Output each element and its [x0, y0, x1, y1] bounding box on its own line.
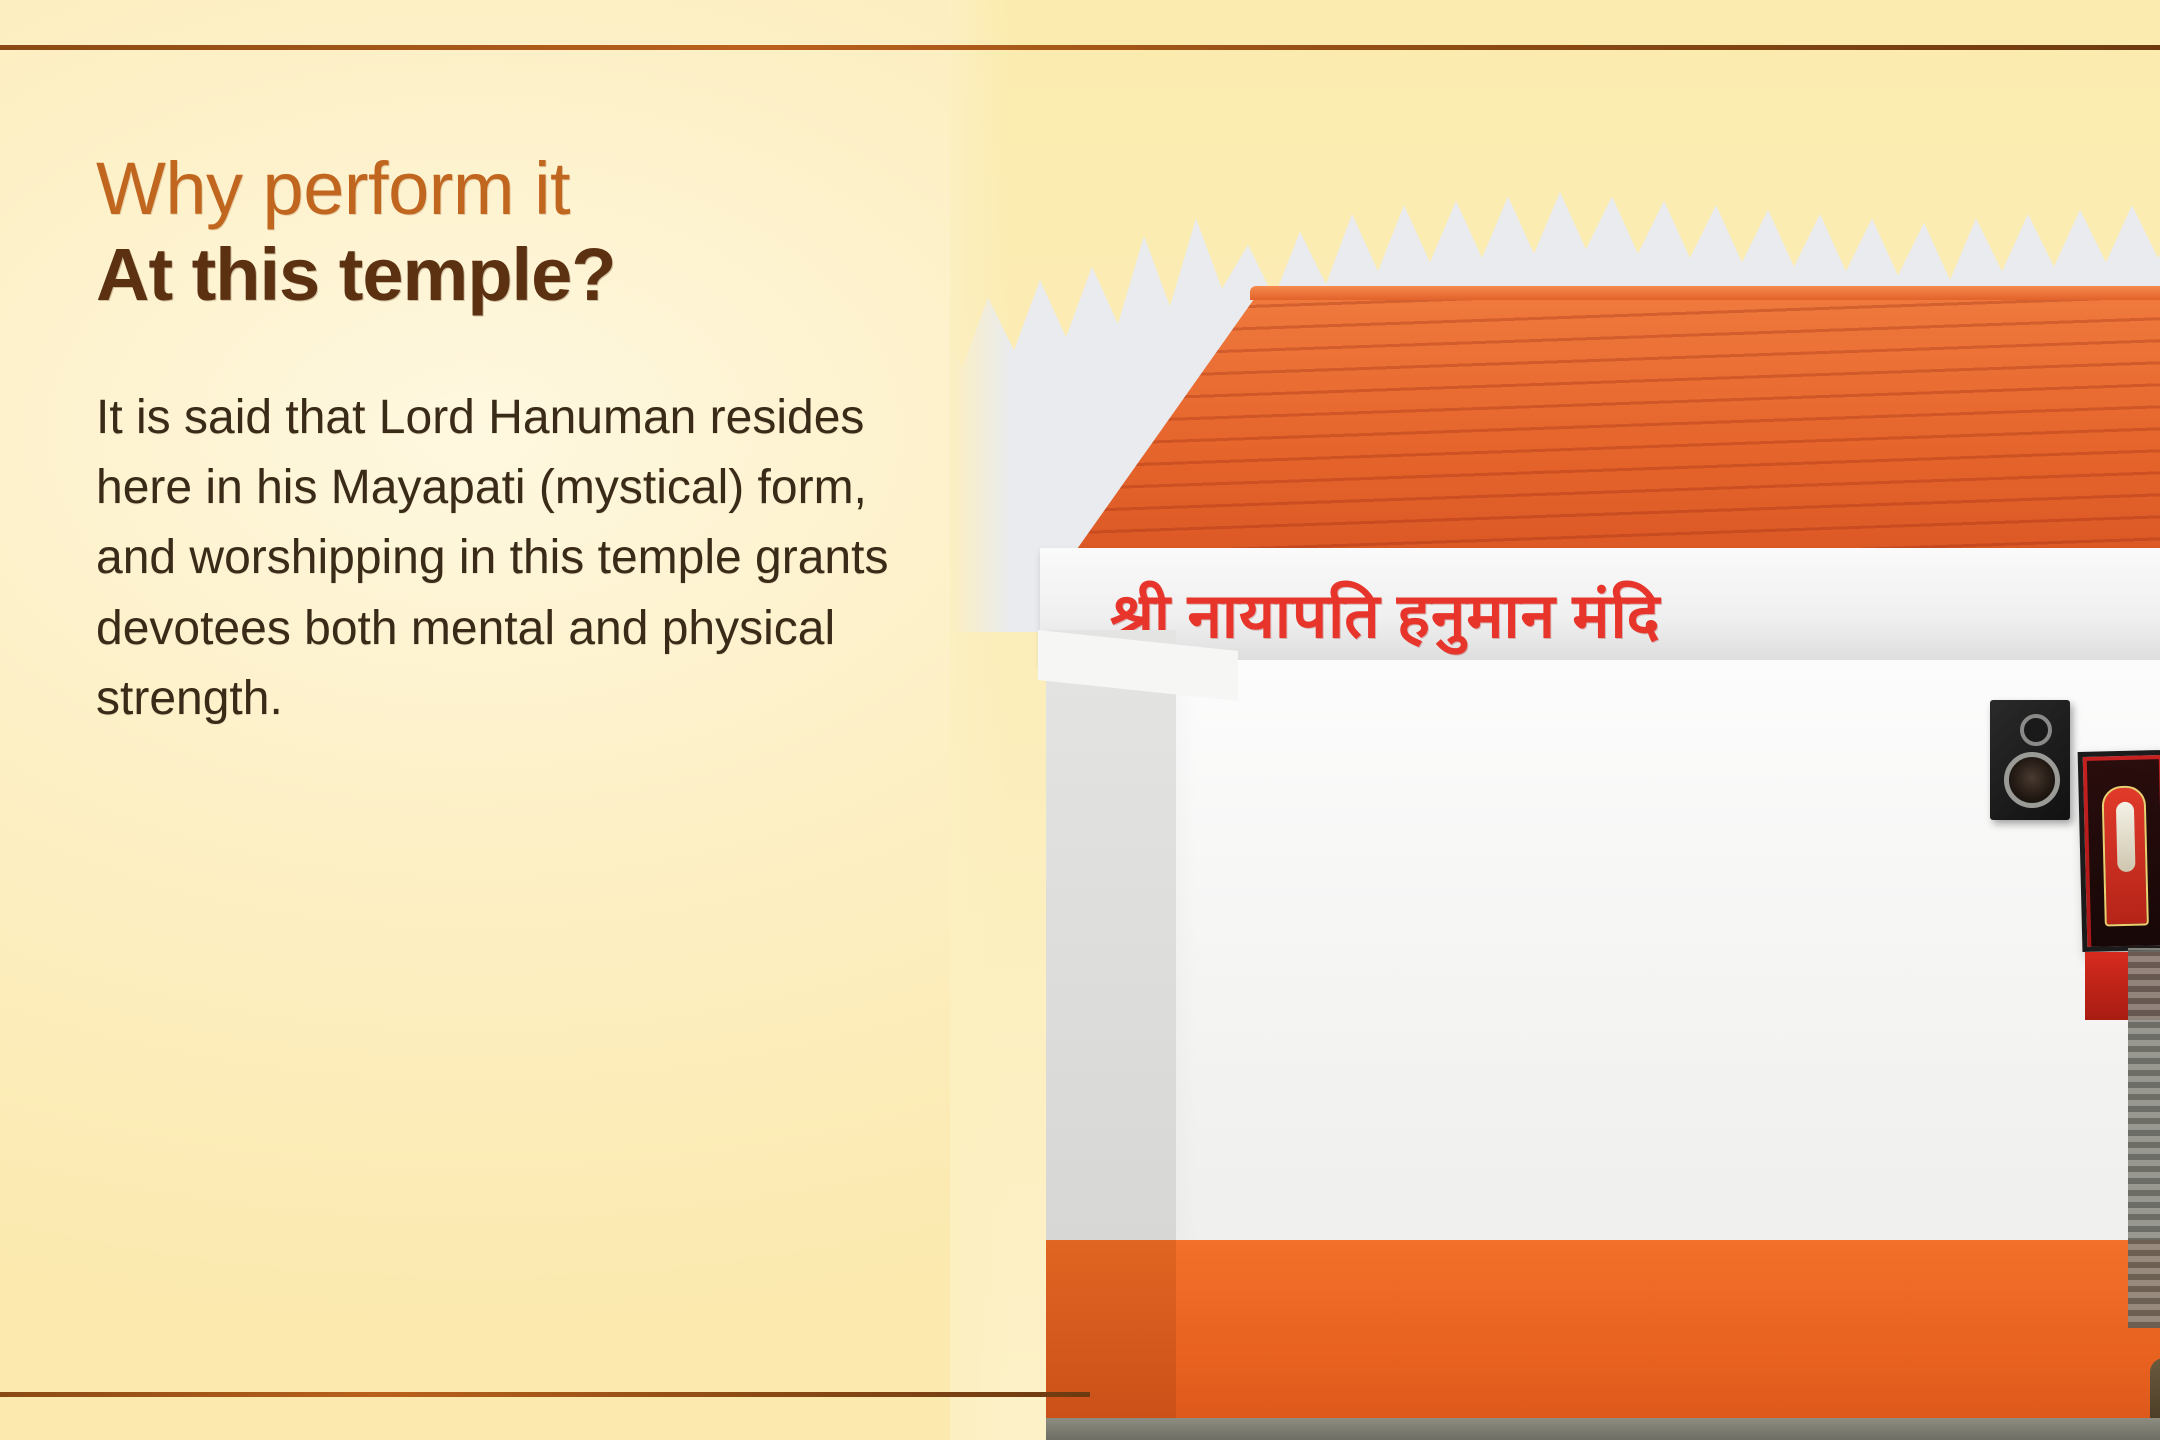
temple-photo: श्री नायापति हनुमान मंदि श्री मायापति हन…: [950, 0, 2160, 1440]
headline-line-2: At this temple?: [96, 234, 926, 317]
slide-canvas: श्री नायापति हनुमान मंदि श्री मायापति हन…: [0, 0, 2160, 1440]
loudspeaker-icon: [1990, 700, 2070, 820]
roof-ridge: [1250, 286, 2160, 300]
orange-dado-band: [1046, 1240, 2160, 1440]
rolling-shutter: [2128, 948, 2160, 1328]
temple-name-sign: श्री नायापति हनुमान मंदि: [1110, 572, 2160, 656]
headline-line-1: Why perform it: [96, 150, 926, 228]
text-column: Why perform it At this temple? It is sai…: [96, 150, 926, 734]
deity-figure: [2101, 785, 2148, 926]
temple-hoarding-board: श्री मायापति हनुमान मंदिर ग्राम — तहसील,…: [2078, 744, 2160, 952]
bottom-divider-rule: [0, 1392, 1090, 1397]
speaker-woofer: [2004, 752, 2060, 808]
body-paragraph: It is said that Lord Hanuman resides her…: [96, 383, 896, 733]
top-divider-rule: [0, 45, 2160, 50]
ground-strip: [1046, 1418, 2160, 1440]
speaker-tweeter: [2020, 714, 2052, 746]
hoarding-deity-panel: [2087, 759, 2160, 951]
side-wall-dado: [1046, 1240, 1176, 1440]
